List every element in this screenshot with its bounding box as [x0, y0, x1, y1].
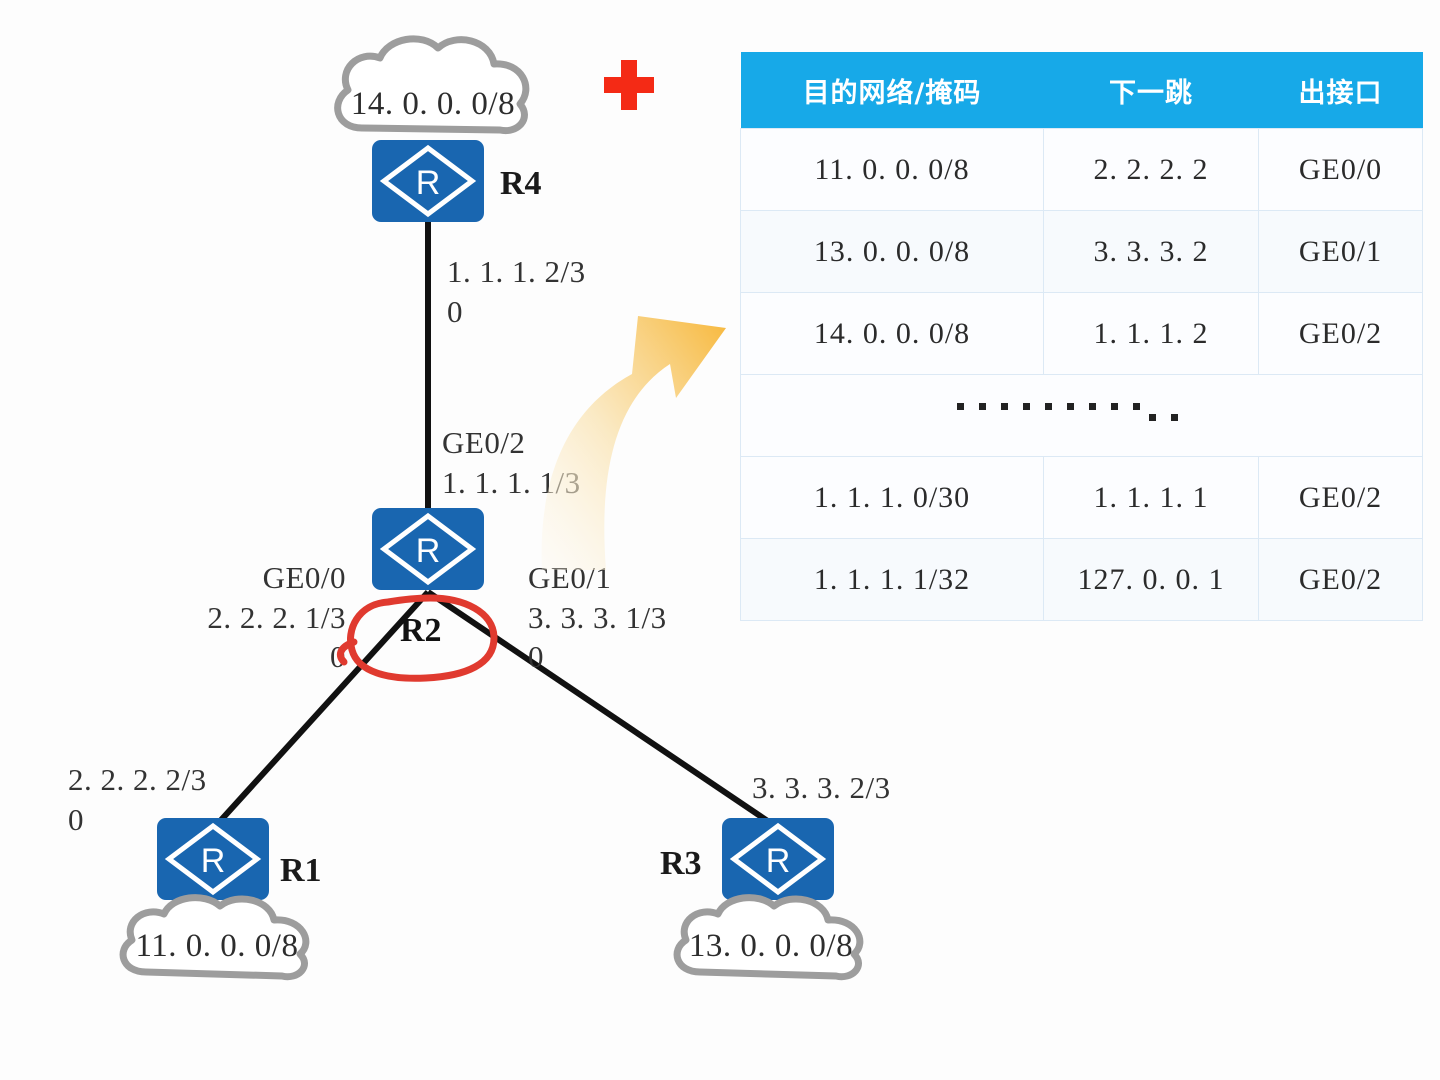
table-row: 11. 0. 0. 0/8 2. 2. 2. 2 GE0/0: [741, 129, 1423, 211]
ellipsis-dots: [957, 399, 1207, 425]
cloud-14: 14. 0. 0. 0/8: [322, 30, 544, 150]
table-row: 13. 0. 0. 0/8 3. 3. 3. 2 GE0/1: [741, 211, 1423, 293]
cell-interface: GE0/0: [1259, 129, 1423, 211]
interface-label-r2-up: GE0/2 1. 1. 1. 1/3: [442, 423, 581, 502]
cell-interface: GE0/1: [1259, 211, 1423, 293]
cloud-11-label: 11. 0. 0. 0/8: [108, 928, 326, 965]
cell-next-hop: 2. 2. 2. 2: [1044, 129, 1259, 211]
red-plus-icon: [604, 60, 654, 110]
cell-destination: 13. 0. 0. 0/8: [741, 211, 1044, 293]
cell-destination: 1. 1. 1. 1/32: [741, 539, 1044, 621]
table-row: 14. 0. 0. 0/8 1. 1. 1. 2 GE0/2: [741, 293, 1423, 375]
column-header-next-hop: 下一跳: [1044, 52, 1259, 129]
table-header-row: 目的网络/掩码 下一跳 出接口: [741, 52, 1423, 129]
router-r2[interactable]: R: [372, 508, 484, 590]
column-header-interface: 出接口: [1259, 52, 1423, 129]
svg-text:R: R: [201, 842, 226, 880]
router-r1[interactable]: R: [157, 818, 269, 900]
router-r4-label: R4: [500, 165, 542, 203]
table-ellipsis-row: [741, 375, 1423, 457]
svg-text:R: R: [416, 164, 441, 202]
cell-interface: GE0/2: [1259, 457, 1423, 539]
svg-text:R: R: [416, 532, 441, 570]
column-header-destination: 目的网络/掩码: [741, 52, 1044, 129]
cell-interface: GE0/2: [1259, 293, 1423, 375]
svg-text:R: R: [766, 842, 791, 880]
interface-label-r3-up: 3. 3. 3. 2/3: [752, 768, 891, 808]
table-ellipsis-cell: [741, 375, 1423, 457]
interface-label-r4-down: 1. 1. 1. 2/3 0: [447, 252, 586, 331]
cloud-13: 13. 0. 0. 0/8: [662, 890, 880, 988]
cell-destination: 1. 1. 1. 0/30: [741, 457, 1044, 539]
cell-destination: 11. 0. 0. 0/8: [741, 129, 1044, 211]
cell-interface: GE0/2: [1259, 539, 1423, 621]
router-r3[interactable]: R: [722, 818, 834, 900]
cloud-11: 11. 0. 0. 0/8: [108, 890, 326, 988]
router-r1-label: R1: [280, 852, 322, 890]
cloud-14-label: 14. 0. 0. 0/8: [322, 86, 544, 123]
cell-next-hop: 3. 3. 3. 2: [1044, 211, 1259, 293]
table-row: 1. 1. 1. 0/30 1. 1. 1. 1 GE0/2: [741, 457, 1423, 539]
cell-next-hop: 1. 1. 1. 1: [1044, 457, 1259, 539]
cell-next-hop: 127. 0. 0. 1: [1044, 539, 1259, 621]
network-topology-diagram: 14. 0. 0. 0/8 R R4 1. 1. 1. 2/3 0 GE0/2 …: [0, 0, 1440, 1080]
cloud-13-label: 13. 0. 0. 0/8: [662, 928, 880, 965]
table-row: 1. 1. 1. 1/32 127. 0. 0. 1 GE0/2: [741, 539, 1423, 621]
interface-label-r2-left: GE0/0 2. 2. 2. 1/3 0: [178, 558, 346, 677]
interface-label-r2-right: GE0/1 3. 3. 3. 1/3 0: [528, 558, 667, 677]
routing-table: 目的网络/掩码 下一跳 出接口 11. 0. 0. 0/8 2. 2. 2. 2…: [740, 52, 1423, 621]
cell-destination: 14. 0. 0. 0/8: [741, 293, 1044, 375]
router-r3-label: R3: [660, 845, 702, 883]
cell-next-hop: 1. 1. 1. 2: [1044, 293, 1259, 375]
router-r4[interactable]: R: [372, 140, 484, 222]
router-r2-label: R2: [400, 612, 442, 650]
